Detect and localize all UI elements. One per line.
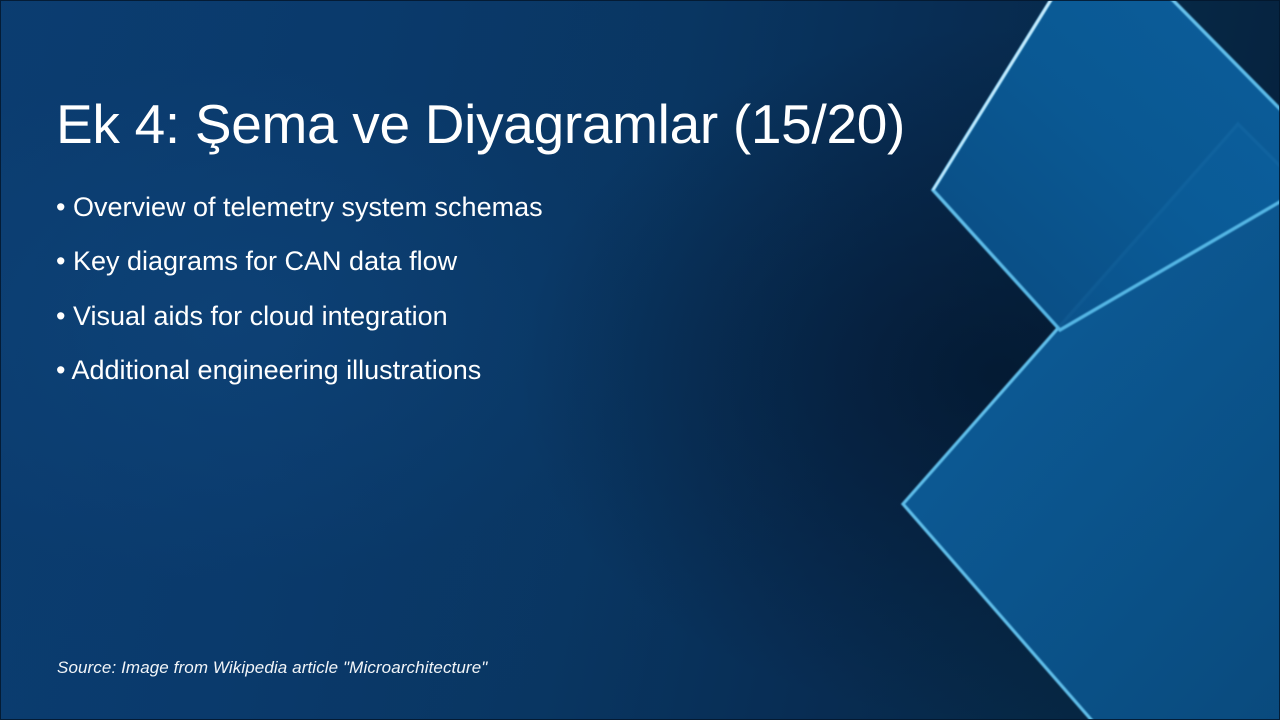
bullet-marker-icon: •: [56, 192, 65, 222]
source-caption: Source: Image from Wikipedia article "Mi…: [57, 658, 487, 678]
list-item: • Visual aids for cloud integration: [56, 297, 696, 335]
bullet-marker-icon: •: [56, 355, 65, 385]
list-item-label: Additional engineering illustrations: [71, 355, 481, 385]
bullet-marker-icon: •: [56, 246, 65, 276]
list-item-label: Overview of telemetry system schemas: [73, 192, 543, 222]
presentation-slide: Ek 4: Şema ve Diyagramlar (15/20) • Over…: [0, 0, 1280, 720]
list-item-label: Key diagrams for CAN data flow: [73, 246, 457, 276]
list-item: • Key diagrams for CAN data flow: [56, 242, 696, 280]
slide-content: Ek 4: Şema ve Diyagramlar (15/20) • Over…: [0, 0, 1280, 720]
slide-title: Ek 4: Şema ve Diyagramlar (15/20): [56, 92, 1056, 157]
bullet-list: • Overview of telemetry system schemas •…: [56, 188, 696, 389]
list-item: • Additional engineering illustrations: [56, 351, 696, 389]
bullet-marker-icon: •: [56, 301, 65, 331]
list-item-label: Visual aids for cloud integration: [73, 301, 448, 331]
list-item: • Overview of telemetry system schemas: [56, 188, 696, 226]
